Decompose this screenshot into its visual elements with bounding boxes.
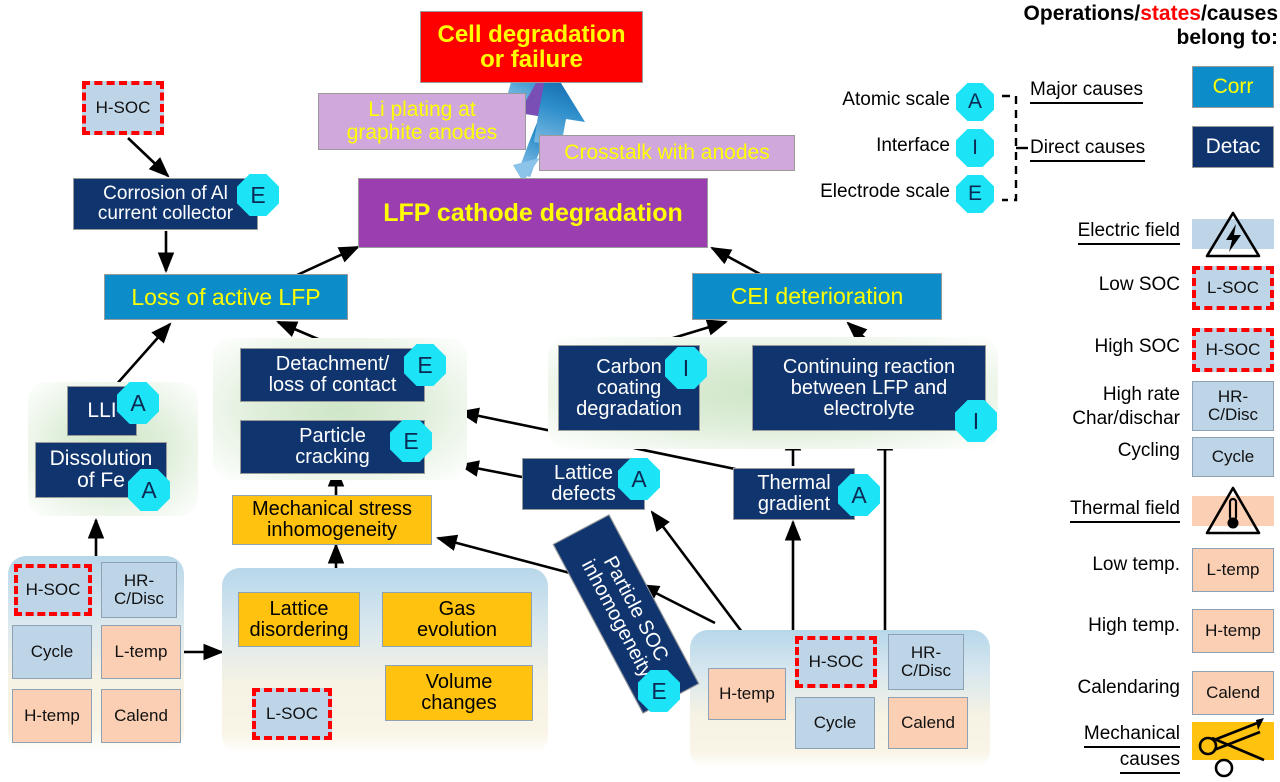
- node-loss-active-lfp[interactable]: Loss of active LFP: [104, 274, 348, 320]
- node-li-plating[interactable]: Li plating at graphite anodes: [318, 93, 526, 150]
- legend-direct-causes-text: Direct causes: [1030, 138, 1145, 162]
- legend-swatch-h-temp: H-temp: [1192, 609, 1274, 653]
- state-left-hr-cdisc[interactable]: HR- C/Disc: [101, 562, 177, 618]
- node-corrosion-al[interactable]: Corrosion of Al current collector: [73, 178, 258, 230]
- node-cell-degradation[interactable]: Cell degradation or failure: [420, 11, 643, 83]
- legend-title-belongto: belong to:: [1177, 26, 1278, 49]
- legend-mechanical-text-1: Mechanical: [1084, 724, 1180, 748]
- badge-electrode-scale-legend: E: [956, 175, 994, 213]
- legend-mechanical-text-2: causes: [1120, 750, 1180, 774]
- state-left-h-temp[interactable]: H-temp: [12, 689, 92, 743]
- thermal-field-icon: [1192, 485, 1274, 537]
- node-lattice-disordering[interactable]: Lattice disordering: [238, 592, 360, 647]
- legend-electric-field-text: Electric field: [1078, 221, 1180, 245]
- legend-electric-field-label: Electric field: [1000, 221, 1180, 245]
- legend-high-temp-label: High temp.: [1000, 616, 1180, 637]
- node-crosstalk[interactable]: Crosstalk with anodes: [539, 135, 795, 171]
- node-lsoc-mid[interactable]: L-SOC: [252, 688, 332, 740]
- state-right-calend[interactable]: Calend: [888, 697, 968, 749]
- legend-title: Operations/states/causes belong to:: [940, 2, 1278, 49]
- badge-interface-legend: I: [956, 129, 994, 167]
- legend-electrode-scale-label: Electrode scale: [750, 182, 950, 203]
- state-left-calend[interactable]: Calend: [101, 689, 181, 743]
- legend-mechanical-label-line1: Mechanical: [1000, 724, 1180, 748]
- legend-swatch-calend: Calend: [1192, 671, 1274, 715]
- electric-field-icon: [1192, 210, 1274, 258]
- node-hsoc-top[interactable]: H-SOC: [82, 81, 164, 135]
- node-volume-changes[interactable]: Volume changes: [385, 665, 533, 721]
- state-right-hr-cdisc[interactable]: HR- C/Disc: [888, 634, 964, 690]
- state-left-h-soc[interactable]: H-SOC: [14, 564, 92, 616]
- legend-swatch-h-soc: H-SOC: [1192, 328, 1274, 372]
- node-continuing-reaction[interactable]: Continuing reaction between LFP and elec…: [752, 345, 986, 431]
- state-right-cycle[interactable]: Cycle: [795, 697, 875, 749]
- legend-title-causes: /causes: [1201, 2, 1278, 25]
- diagram-canvas: Cell degradation or failure Li plating a…: [0, 0, 1280, 782]
- legend-swatch-hr-cdisc: HR- C/Disc: [1192, 381, 1274, 431]
- legend-high-rate-label-line1: High rate: [1000, 385, 1180, 406]
- node-lfp-cathode-degradation[interactable]: LFP cathode degradation: [358, 178, 708, 248]
- legend-swatch-cycle: Cycle: [1192, 437, 1274, 477]
- state-left-l-temp[interactable]: L-temp: [101, 625, 181, 679]
- legend-title-operations: Operations/: [1024, 2, 1141, 25]
- state-right-h-temp[interactable]: H-temp: [708, 668, 786, 720]
- legend-swatch-major-causes: Corr: [1192, 66, 1274, 108]
- node-gas-evolution[interactable]: Gas evolution: [382, 592, 532, 647]
- legend-cycling-label: Cycling: [1000, 441, 1180, 462]
- legend-atomic-scale-label: Atomic scale: [770, 90, 950, 111]
- legend-major-causes-text: Major causes: [1030, 80, 1143, 104]
- node-detachment[interactable]: Detachment/ loss of contact: [240, 348, 425, 402]
- legend-title-states: states: [1140, 2, 1201, 25]
- legend-high-rate-label-line2: Char/dischar: [1000, 409, 1180, 430]
- legend-low-soc-label: Low SOC: [1010, 275, 1180, 296]
- legend-direct-causes: Direct causes: [1030, 138, 1200, 162]
- legend-interface-label: Interface: [770, 136, 950, 157]
- state-left-cycle[interactable]: Cycle: [12, 625, 92, 679]
- state-right-h-soc[interactable]: H-SOC: [795, 636, 877, 688]
- badge-electrode-scale-corrosion: E: [237, 174, 279, 216]
- legend-swatch-direct-causes: Detac: [1192, 126, 1274, 168]
- legend-calendaring-label: Calendaring: [990, 678, 1180, 699]
- node-cei-deterioration[interactable]: CEI deterioration: [692, 273, 942, 320]
- scissors-icon: [1192, 722, 1274, 774]
- legend-low-temp-label: Low temp.: [1000, 555, 1180, 576]
- legend-swatch-l-soc: L-SOC: [1192, 266, 1274, 310]
- legend-major-causes: Major causes: [1030, 80, 1190, 104]
- legend-thermal-field-text: Thermal field: [1070, 499, 1180, 523]
- legend-high-soc-label: High SOC: [1010, 337, 1180, 358]
- node-mechanical-stress[interactable]: Mechanical stress inhomogeneity: [232, 495, 432, 545]
- node-thermal-gradient[interactable]: Thermal gradient: [733, 468, 855, 520]
- badge-atomic-scale-legend: A: [956, 83, 994, 121]
- legend-thermal-field-label: Thermal field: [1000, 499, 1180, 523]
- legend-swatch-l-temp: L-temp: [1192, 548, 1274, 592]
- legend-mechanical-label-line2: causes: [1000, 750, 1180, 774]
- node-particle-soc-inhomogeneity-wrap: Particle SOC inhomogeneity: [506, 530, 716, 710]
